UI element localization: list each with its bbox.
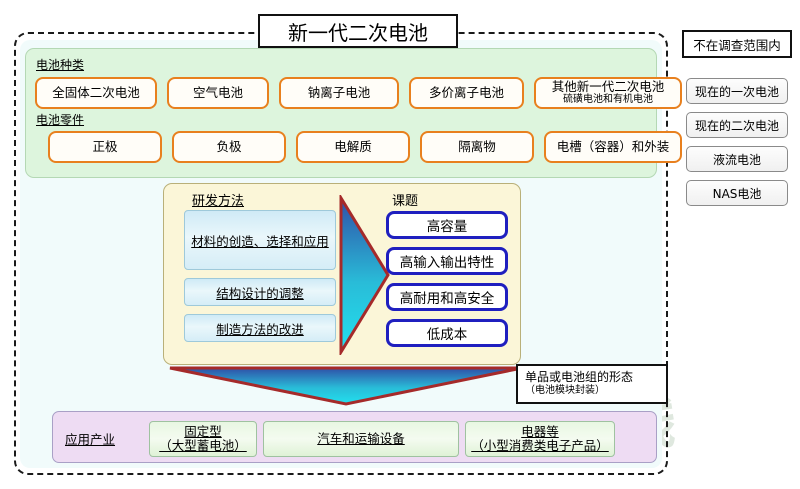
- battery-type-box[interactable]: 其他新一代二次电池 硫磺电池和有机电池: [534, 77, 682, 109]
- out-of-scope-item[interactable]: 现在的二次电池: [686, 112, 788, 138]
- application-item-line1: 固定型: [184, 425, 222, 439]
- application-item[interactable]: 电器等 （小型消费类电子产品）: [465, 421, 615, 457]
- page-title: 新一代二次电池: [258, 14, 458, 48]
- application-item-line1: 汽车和运输设备: [317, 432, 405, 446]
- battery-type-label: 钠离子电池: [308, 86, 371, 100]
- application-label: 应用产业: [65, 429, 115, 448]
- right-arrow-icon: [338, 195, 390, 355]
- battery-part-label: 正极: [92, 140, 117, 154]
- rnd-method-label: 制造方法的改进: [216, 319, 304, 338]
- rnd-method-box[interactable]: 材料的创造、选择和应用: [184, 210, 336, 270]
- battery-parts-label: 电池零件: [36, 111, 84, 128]
- rnd-method-box[interactable]: 结构设计的调整: [184, 278, 336, 306]
- out-of-scope-title: 不在调查范围内: [682, 30, 792, 58]
- rnd-method-box[interactable]: 制造方法的改进: [184, 314, 336, 342]
- application-item-line2: （大型蓄电池）: [159, 439, 247, 453]
- rnd-methods-label: 研发方法: [192, 190, 244, 209]
- battery-part-box[interactable]: 负极: [172, 131, 286, 163]
- rnd-topic-label: 低成本: [427, 323, 468, 343]
- battery-type-sublabel: 硫磺电池和有机电池: [563, 94, 653, 106]
- rnd-method-label: 材料的创造、选择和应用: [191, 231, 329, 250]
- out-of-scope-item[interactable]: 现在的一次电池: [686, 78, 788, 104]
- battery-part-label: 电槽（容器）和外装: [557, 140, 670, 154]
- battery-type-label: 全固体二次电池: [52, 86, 140, 100]
- rnd-topic-label: 高耐用和高安全: [400, 287, 495, 307]
- battery-part-box[interactable]: 正极: [48, 131, 162, 163]
- battery-part-box[interactable]: 电槽（容器）和外装: [544, 131, 682, 163]
- down-arrow-icon: [168, 366, 524, 406]
- out-of-scope-item[interactable]: NAS电池: [686, 180, 788, 206]
- battery-type-box[interactable]: 空气电池: [167, 77, 269, 109]
- cell-form-note-line1: 单品或电池组的形态: [525, 371, 666, 385]
- rnd-topic-box[interactable]: 低成本: [386, 319, 508, 347]
- battery-type-box[interactable]: 多价离子电池: [409, 77, 524, 109]
- cell-form-note-line2: （电池模块封装）: [525, 385, 666, 397]
- battery-type-box[interactable]: 钠离子电池: [279, 77, 399, 109]
- battery-part-label: 负极: [216, 140, 241, 154]
- rnd-topic-label: 高容量: [427, 215, 468, 235]
- battery-type-box[interactable]: 全固体二次电池: [35, 77, 157, 109]
- rnd-topic-box[interactable]: 高耐用和高安全: [386, 283, 508, 311]
- application-item-line2: （小型消费类电子产品）: [471, 439, 609, 453]
- battery-part-box[interactable]: 隔离物: [420, 131, 534, 163]
- rnd-topic-label: 高输入输出特性: [400, 251, 495, 271]
- cell-form-note: 单品或电池组的形态 （电池模块封装）: [516, 364, 668, 404]
- battery-part-label: 隔离物: [458, 140, 496, 154]
- application-item[interactable]: 汽车和运输设备: [263, 421, 459, 457]
- out-of-scope-item[interactable]: 液流电池: [686, 146, 788, 172]
- application-item[interactable]: 固定型 （大型蓄电池）: [149, 421, 257, 457]
- battery-part-box[interactable]: 电解质: [296, 131, 410, 163]
- battery-type-label: 其他新一代二次电池: [552, 80, 665, 94]
- rnd-method-label: 结构设计的调整: [216, 283, 304, 302]
- battery-panel: 电池种类 电池零件 全固体二次电池 空气电池 钠离子电池 多价离子电池 其他新一…: [25, 48, 657, 178]
- rnd-topic-box[interactable]: 高容量: [386, 211, 508, 239]
- battery-part-label: 电解质: [334, 140, 372, 154]
- application-item-line1: 电器等: [521, 425, 559, 439]
- battery-type-label: 多价离子电池: [429, 86, 504, 100]
- battery-types-label: 电池种类: [36, 56, 84, 73]
- application-panel: 应用产业 固定型 （大型蓄电池） 汽车和运输设备 电器等 （小型消费类电子产品）: [52, 411, 657, 463]
- diagram-root: 日经技术在线 新一代二次电池 电池种类 电池零件 全固体二次电池 空气电池 钠离…: [0, 0, 800, 489]
- battery-type-label: 空气电池: [193, 86, 243, 100]
- rnd-topic-box[interactable]: 高输入输出特性: [386, 247, 508, 275]
- rnd-topics-label: 课题: [392, 190, 418, 209]
